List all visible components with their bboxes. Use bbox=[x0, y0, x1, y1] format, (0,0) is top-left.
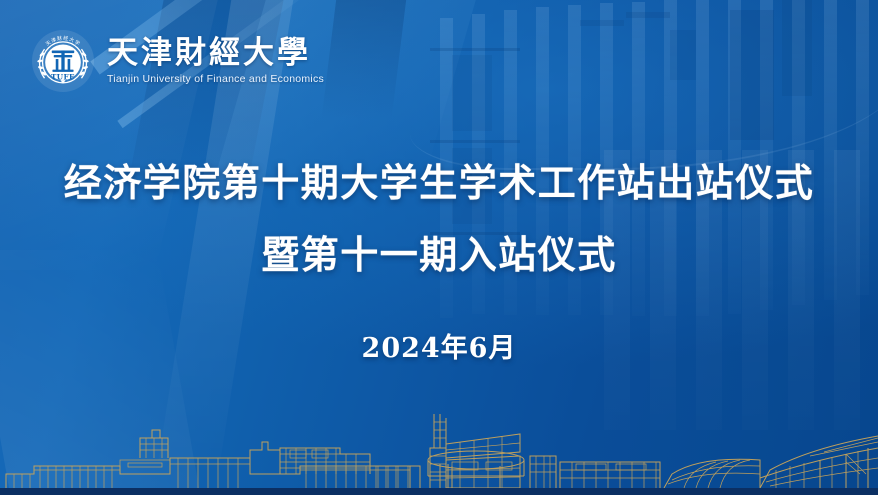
campus-skyline-line-art bbox=[0, 400, 878, 495]
slide-title-block: 经济学院第十期大学生学术工作站出站仪式 暨第十一期入站仪式 2024年6月 bbox=[0, 160, 878, 365]
tufe-circular-emblem-icon: 天津财经大学 TUFE bbox=[30, 28, 96, 94]
logo-wordmark-en: Tianjin University of Finance and Econom… bbox=[107, 73, 324, 85]
slide-date: 2024年6月 bbox=[0, 326, 878, 365]
facet-shape bbox=[321, 0, 408, 120]
university-logo: 天津财经大学 TUFE bbox=[30, 28, 324, 94]
logo-wordmark: 天津財經大學 Tianjin University of Finance and… bbox=[107, 37, 324, 86]
building-curved-roofline bbox=[410, 0, 878, 170]
logo-wordmark-cn: 天津財經大學 bbox=[107, 37, 324, 70]
slide-title-line-1: 经济学院第十期大学生学术工作站出站仪式 bbox=[0, 160, 878, 206]
ground-baseline bbox=[0, 488, 878, 495]
svg-text:TUFE: TUFE bbox=[51, 72, 75, 81]
slide-title-line-2: 暨第十一期入站仪式 bbox=[0, 232, 878, 278]
presentation-slide: 天津财经大学 TUFE bbox=[0, 0, 878, 495]
